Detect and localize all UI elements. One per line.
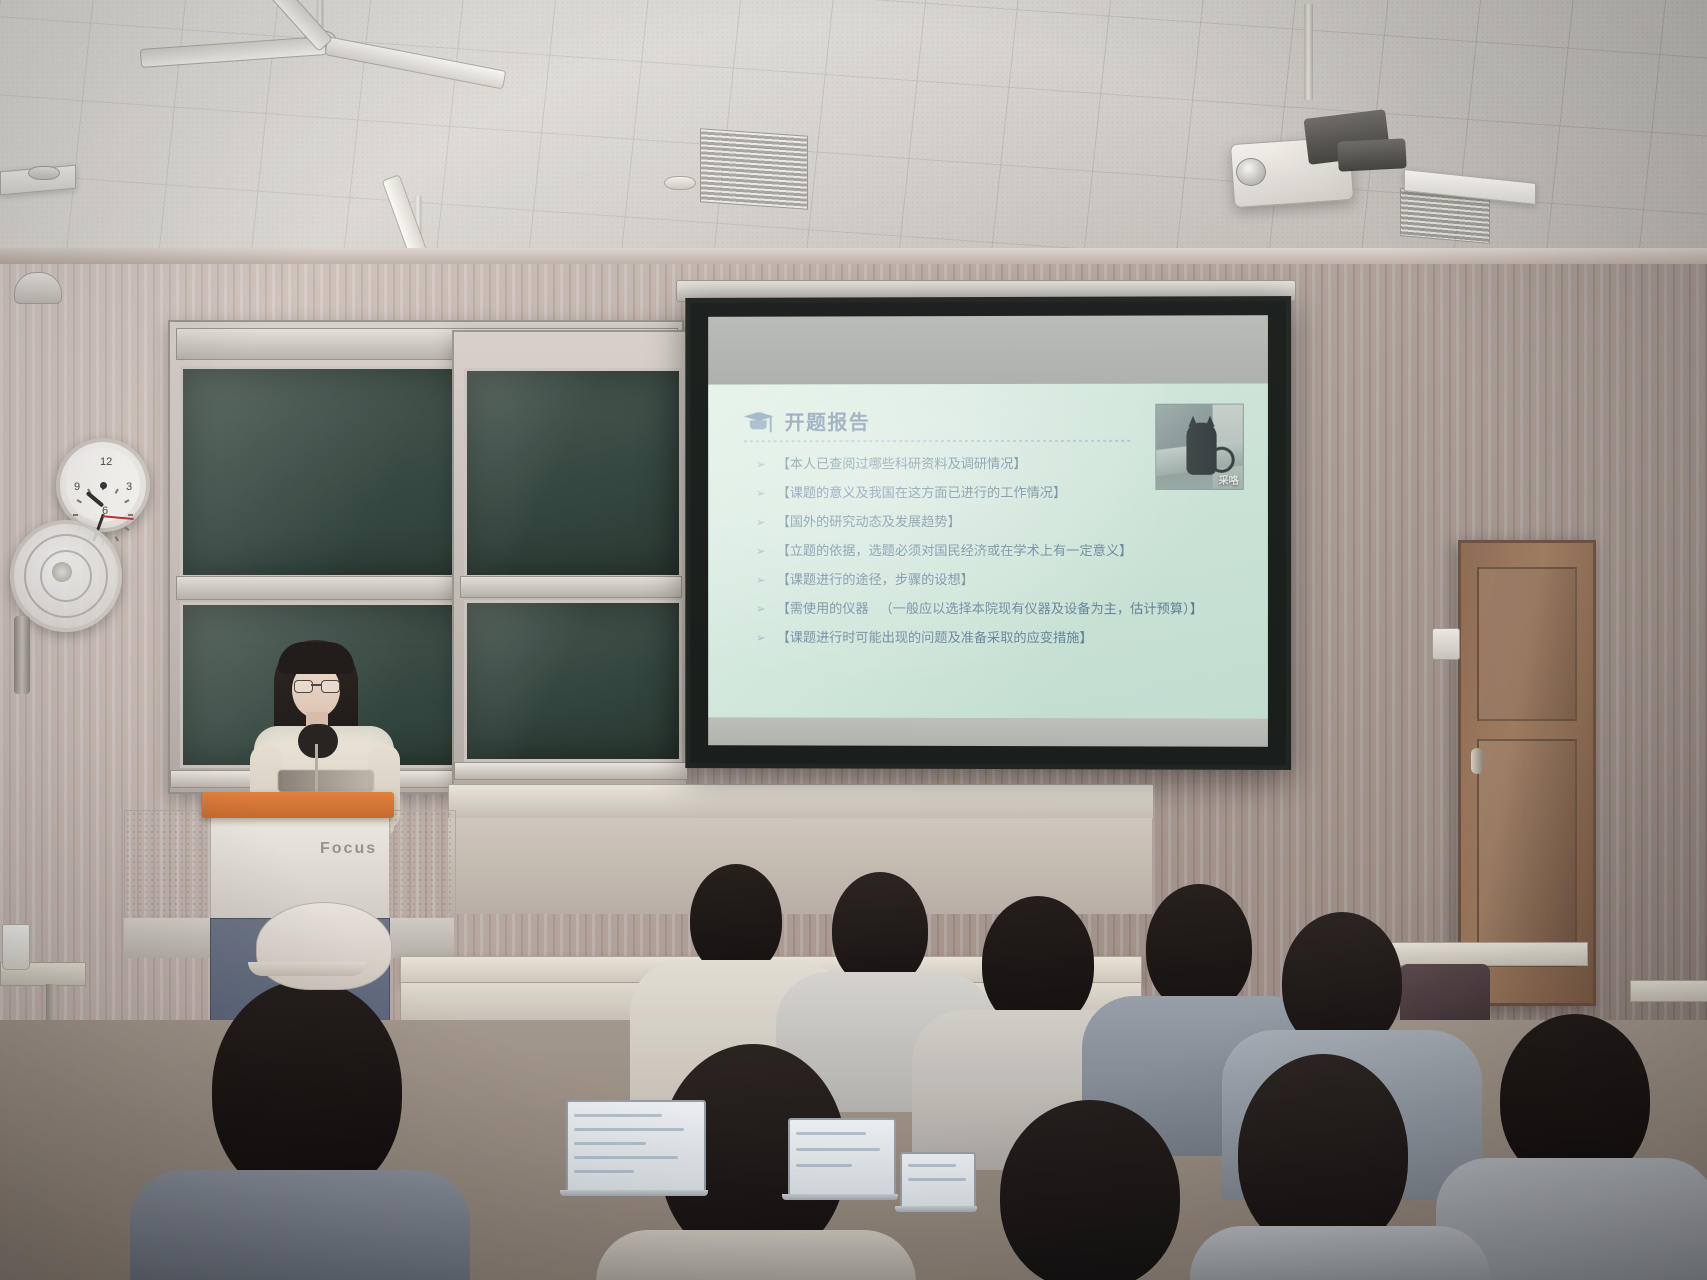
fan-support-arm [14,616,30,694]
slide-bullet-list: ➢ 【本人已查阅过哪些科研资料及调研情况】 ➢ 【课题的意义及我国在这方面已进行… [756,456,1226,660]
fan-blade [140,36,327,68]
smoke-detector [664,176,696,190]
clock-numeral: 9 [74,481,80,493]
blackboard-mid-rail [460,576,682,598]
projection-screen-surface: 开题报告 采咯 ➢ 【本人已查阅过哪些科研资料及调研情况】 [708,315,1268,747]
bullet-text: 【本人已查阅过哪些科研资料及调研情况】 [777,456,1027,472]
graduation-cap-icon [744,409,774,433]
smoke-detector [28,166,60,180]
wall-outlet [1432,628,1460,660]
audience-head-foreground [212,980,402,1200]
slide-bullet-item: ➢ 【国外的研究动态及发展趋势】 [756,514,1226,530]
laptop-base [895,1206,977,1212]
presenter-collar [298,724,338,758]
fan-hub [52,562,72,582]
slide-bullet-item: ➢ 【需使用的仪器 （一般应以选择本院现有仪器及设备为主，估计预算）】 [756,601,1226,617]
slide-bullet-item: ➢ 【课题的意义及我国在这方面已进行的工作情况】 [756,485,1226,501]
bullet-text-note: （一般应以选择本院现有仪器及设备为主，估计预算）】 [880,601,1203,617]
presenter-glasses [294,680,338,691]
bullet-text: 【课题的意义及我国在这方面已进行的工作情况】 [777,485,1067,501]
bullet-text: 【立题的依据，选题必须对国民经济或在学术上有一定意义】 [777,543,1133,559]
security-camera [14,272,62,304]
cap-brim [248,962,366,976]
door-handle[interactable] [1471,748,1483,774]
laptop-screen [900,1152,976,1210]
clock-numeral: 3 [126,481,132,493]
blackboard-panel-upper [464,368,682,578]
fan-blade [324,36,506,89]
laptop-base [782,1194,898,1200]
projector-bracket [1337,138,1406,172]
bullet-text: 【课题进行的途径，步骤的设想】 [777,572,974,588]
slide-divider [744,440,1131,442]
wall-clock: 12 3 6 9 [56,438,150,532]
lectern-left-skirt [124,918,210,958]
projection-screen: 开题报告 采咯 ➢ 【本人已查阅过哪些科研资料及调研情况】 [685,296,1291,770]
slide-header: 开题报告 [744,406,870,435]
screen-letterbox-bottom [708,717,1268,746]
projector-lens [1236,158,1266,186]
bullet-arrow-icon: ➢ [756,572,766,588]
laptop-screen [788,1118,896,1198]
front-counter [448,784,1154,820]
lectern-right-skirt [386,918,454,958]
blackboard-right-section [452,330,688,786]
presenter-bangs [278,642,354,674]
bullet-arrow-icon: ➢ [756,514,766,530]
side-desk [1386,942,1588,966]
audience-head-foreground [1000,1100,1180,1280]
ceiling-fan [120,0,500,100]
bullet-arrow-icon: ➢ [756,601,766,617]
thermos-bottle [2,924,30,970]
presentation-slide: 开题报告 采咯 ➢ 【本人已查阅过哪些科研资料及调研情况】 [708,383,1268,718]
chalk-ledge [454,762,688,780]
blackboard-panel-lower [464,600,682,762]
bullet-arrow-icon: ➢ [756,630,766,646]
clock-center-pin [100,482,107,489]
bullet-text-main: 【需使用的仪器 [777,601,869,617]
bullet-arrow-icon: ➢ [756,543,766,559]
lectern-desktop [202,792,394,818]
lectern-brand-label: Focus [320,840,377,858]
slide-title: 开题报告 [785,406,871,435]
lectern-right-panel [386,810,456,922]
ceiling-projector [1232,96,1432,206]
wall-trim [0,248,1707,264]
bullet-text: 【国外的研究动态及发展趋势】 [777,514,961,530]
audience-shoulders [1190,1226,1490,1280]
classroom-photo: 12 3 6 9 [0,0,1707,1280]
screen-letterbox-top [708,315,1268,384]
audience-shoulders [130,1170,470,1280]
clock-face: 12 3 6 9 [66,448,140,522]
projector-mount-arm [1304,4,1313,100]
slide-bullet-item: ➢ 【课题进行时可能出现的问题及准备采取的应变措施】 [756,630,1226,647]
slide-bullet-item: ➢ 【立题的依据，选题必须对国民经济或在学术上有一定意义】 [756,543,1226,559]
slide-bullet-item: ➢ 【本人已查阅过哪些科研资料及调研情况】 [756,456,1226,472]
audience-head [1146,884,1252,1012]
ceiling-vent [700,128,808,210]
slide-bullet-item: ➢ 【课题进行的途径，步骤的设想】 [756,572,1226,588]
laptop-screen [566,1100,706,1194]
classroom-door[interactable] [1458,540,1596,1006]
bullet-arrow-icon: ➢ [756,456,766,472]
door-panel-upper [1477,567,1577,721]
audience-baseball-cap [256,902,392,990]
audience-head-foreground [1238,1054,1408,1254]
audience-head [832,872,928,988]
audience-shoulders [596,1230,916,1280]
laptop-base [560,1190,708,1196]
door-panel-lower [1477,739,1577,967]
bullet-arrow-icon: ➢ [756,485,766,501]
presenter-jacket-print [278,770,374,792]
bullet-text: 【课题进行时可能出现的问题及准备采取的应变措施】 [777,630,1093,646]
clock-numeral: 12 [100,456,112,468]
side-desk [1630,980,1707,1002]
lectern-left-panel [124,810,212,922]
